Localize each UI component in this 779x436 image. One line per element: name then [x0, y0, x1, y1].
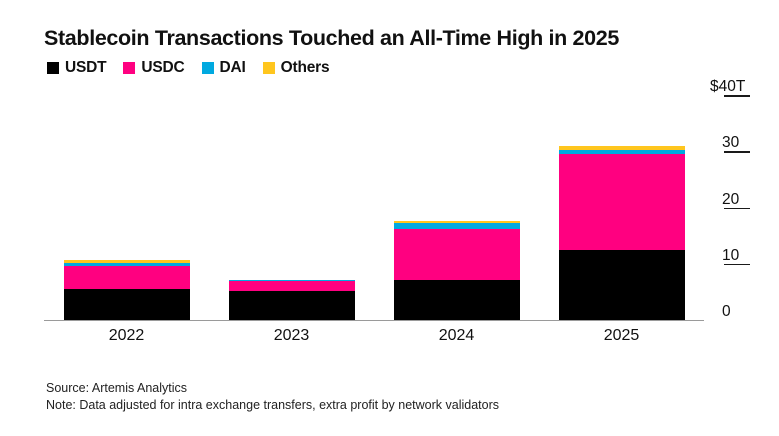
y-tick-mark: [724, 151, 750, 153]
y-tick-label: 30: [722, 135, 739, 151]
legend-item-others[interactable]: Others: [263, 60, 330, 76]
bar-2022[interactable]: [64, 260, 190, 320]
plot-area: [44, 95, 704, 321]
legend-label-usdt: USDT: [65, 60, 106, 76]
axis-baseline: [44, 320, 704, 321]
bar-segment-2022-usdc[interactable]: [64, 266, 190, 289]
footnote-note: Note: Data adjusted for intra exchange t…: [46, 397, 499, 414]
legend-item-dai[interactable]: DAI: [202, 60, 246, 76]
bar-segment-2025-usdt[interactable]: [559, 250, 685, 320]
y-axis: $40T3020100: [704, 80, 774, 330]
x-axis-label-2022: 2022: [44, 328, 209, 344]
legend-item-usdc[interactable]: USDC: [123, 60, 184, 76]
chart-legend: USDT USDC DAI Others: [47, 60, 329, 76]
y-tick-label: $40T: [710, 79, 745, 95]
chart-container: Stablecoin Transactions Touched an All-T…: [0, 0, 779, 436]
x-axis-labels: 2022202320242025: [44, 328, 704, 354]
square-swatch-icon: [202, 62, 214, 74]
legend-item-usdt[interactable]: USDT: [47, 60, 106, 76]
legend-label-usdc: USDC: [141, 60, 184, 76]
y-tick-mark: [724, 95, 750, 97]
bar-segment-2023-usdc[interactable]: [229, 281, 355, 292]
x-axis-label-2025: 2025: [539, 328, 704, 344]
legend-label-others: Others: [281, 60, 330, 76]
bar-segment-2025-usdc[interactable]: [559, 154, 685, 250]
y-tick-mark: [724, 264, 750, 266]
bar-2023[interactable]: [229, 280, 355, 321]
y-tick-mark: [724, 208, 750, 210]
square-swatch-icon: [263, 62, 275, 74]
legend-label-dai: DAI: [220, 60, 246, 76]
bar-segment-2023-usdt[interactable]: [229, 291, 355, 320]
y-tick-label: 0: [722, 304, 731, 320]
bar-segment-2024-usdc[interactable]: [394, 229, 520, 280]
x-axis-label-2024: 2024: [374, 328, 539, 344]
square-swatch-icon: [47, 62, 59, 74]
chart-title: Stablecoin Transactions Touched an All-T…: [44, 26, 619, 51]
chart-footnotes: Source: Artemis Analytics Note: Data adj…: [46, 380, 499, 414]
footnote-source: Source: Artemis Analytics: [46, 380, 499, 397]
x-axis-label-2023: 2023: [209, 328, 374, 344]
bar-segment-2024-usdt[interactable]: [394, 280, 520, 320]
y-tick-label: 10: [722, 248, 739, 264]
y-tick-label: 20: [722, 192, 739, 208]
bar-segment-2022-usdt[interactable]: [64, 289, 190, 321]
square-swatch-icon: [123, 62, 135, 74]
bar-2025[interactable]: [559, 146, 685, 320]
bar-2024[interactable]: [394, 221, 520, 320]
